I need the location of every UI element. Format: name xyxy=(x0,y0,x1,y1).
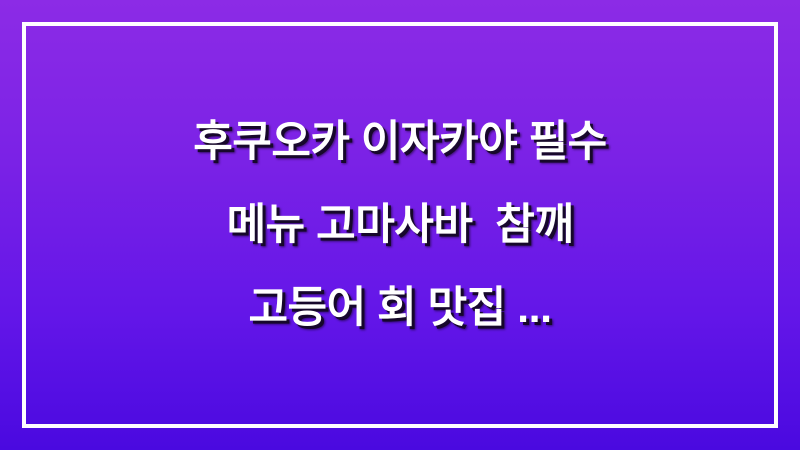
title-line-1: 후쿠오카 이자카야 필수 xyxy=(0,101,800,184)
title-block: 후쿠오카 이자카야 필수 메뉴 고마사바 참깨 고등어 회 맛집 ... xyxy=(0,0,800,450)
title-line-3: 고등어 회 맛집 ... xyxy=(0,267,800,350)
video-thumbnail-card: 후쿠오카 이자카야 필수 메뉴 고마사바 참깨 고등어 회 맛집 ... xyxy=(0,0,800,450)
title-line-2: 메뉴 고마사바 참깨 xyxy=(0,184,800,267)
